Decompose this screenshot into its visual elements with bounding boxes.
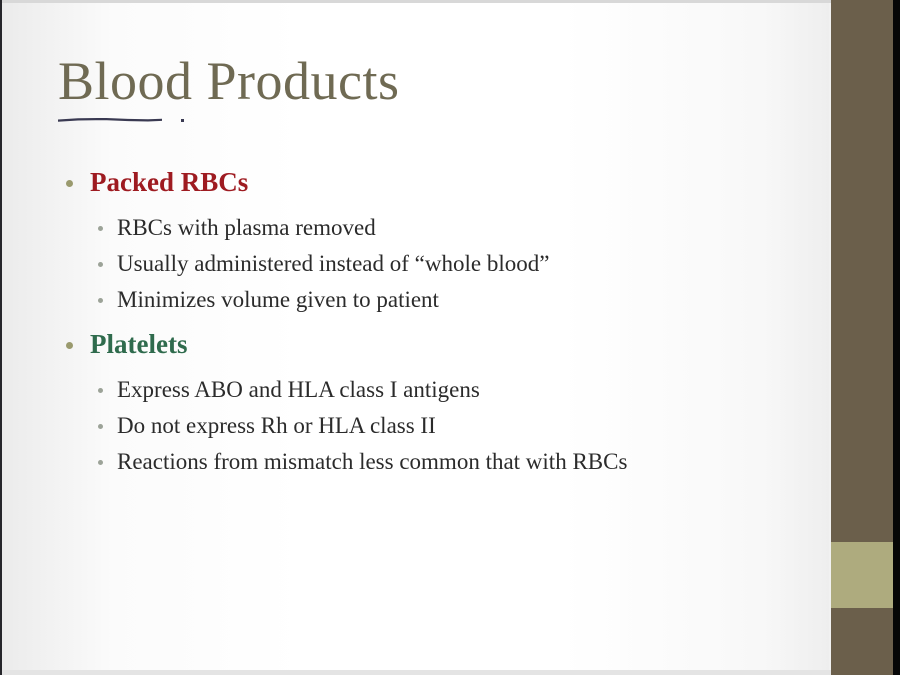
bullet-dot-icon — [66, 342, 73, 349]
sub-bullet-dot-icon — [98, 388, 103, 393]
slide-body: Packed RBCs RBCs with plasma removed Usu… — [0, 160, 800, 484]
bullet-dot-icon — [66, 180, 73, 187]
sub-bullet-dot-icon — [98, 424, 103, 429]
frame-edge-right — [893, 0, 900, 675]
section-heading-packed-rbcs: Packed RBCs — [0, 160, 800, 204]
frame-edge-bottom — [2, 670, 831, 675]
decorative-band-khaki — [831, 542, 893, 608]
list-item: Do not express Rh or HLA class II — [0, 408, 800, 444]
ink-dot-icon — [181, 119, 184, 122]
presentation-slide: Blood Products Packed RBCs RBCs with pla… — [0, 0, 900, 675]
sub-bullet-dot-icon — [98, 262, 103, 267]
list-item-label: Express ABO and HLA class I antigens — [117, 377, 480, 402]
list-item-label: RBCs with plasma removed — [117, 215, 376, 240]
content-section: Packed RBCs RBCs with plasma removed Usu… — [0, 160, 800, 318]
list-item: RBCs with plasma removed — [0, 210, 800, 246]
sub-bullet-dot-icon — [98, 226, 103, 231]
list-item: Express ABO and HLA class I antigens — [0, 372, 800, 408]
section-heading-label: Packed RBCs — [90, 167, 248, 197]
list-item: Usually administered instead of “whole b… — [0, 246, 800, 282]
section-heading-label: Platelets — [90, 329, 187, 359]
sub-bullet-dot-icon — [98, 298, 103, 303]
list-item-label: Usually administered instead of “whole b… — [117, 251, 549, 276]
list-item: Minimizes volume given to patient — [0, 282, 800, 318]
frame-edge-top — [2, 0, 831, 3]
slide-title: Blood Products — [58, 50, 400, 112]
list-item-label: Reactions from mismatch less common that… — [117, 449, 627, 474]
sub-bullet-dot-icon — [98, 460, 103, 465]
content-section: Platelets Express ABO and HLA class I an… — [0, 322, 800, 480]
section-heading-platelets: Platelets — [0, 322, 800, 366]
list-item-label: Minimizes volume given to patient — [117, 287, 439, 312]
hand-drawn-underline-icon — [58, 118, 162, 122]
list-item-label: Do not express Rh or HLA class II — [117, 413, 436, 438]
list-item: Reactions from mismatch less common that… — [0, 444, 800, 480]
